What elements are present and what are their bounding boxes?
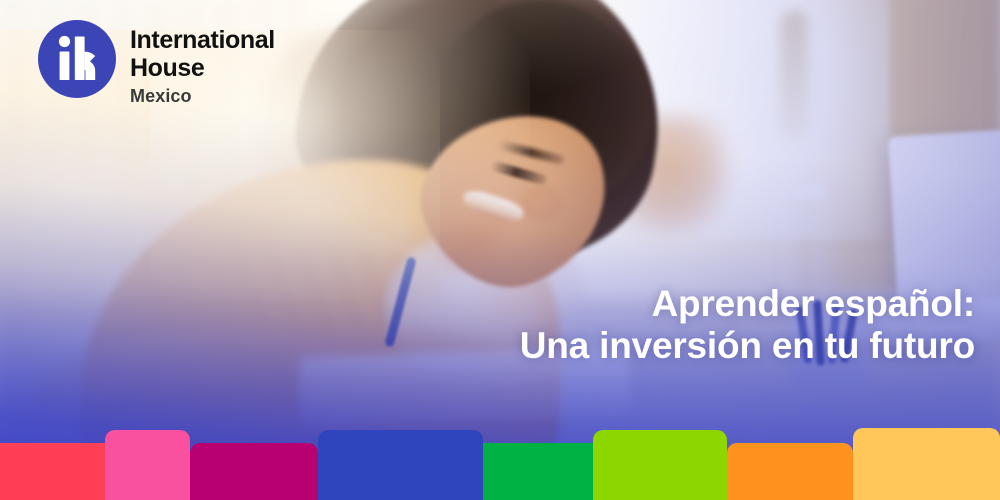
- logo[interactable]: International House Mexico: [38, 20, 275, 108]
- color-block-orange: [727, 443, 853, 500]
- color-block-lime: [593, 430, 727, 500]
- photo-chin: [430, 218, 510, 276]
- logo-wordmark: International House Mexico: [130, 20, 275, 108]
- photo-window-hardware: [780, 10, 808, 140]
- photo-nose: [522, 186, 562, 220]
- logo-line-house: House: [130, 54, 275, 82]
- headline-line-1: Aprender español:: [520, 283, 975, 325]
- color-block-blue: [318, 430, 483, 500]
- logo-subtitle-mexico: Mexico: [130, 82, 275, 108]
- promo-banner: International House Mexico Aprender espa…: [0, 0, 1000, 500]
- headline: Aprender español: Una inversión en tu fu…: [520, 283, 975, 367]
- headline-line-2: Una inversión en tu futuro: [520, 325, 975, 367]
- photo-window-handle: [790, 185, 826, 199]
- ih-monogram-circle-icon: [38, 20, 116, 98]
- color-block-gold: [853, 428, 1000, 500]
- color-block-magenta: [190, 443, 318, 500]
- color-block-red: [0, 443, 105, 500]
- color-block-pink: [105, 430, 190, 500]
- logo-line-international: International: [130, 26, 275, 54]
- brand-color-strip: [0, 420, 1000, 500]
- color-block-green: [483, 443, 593, 500]
